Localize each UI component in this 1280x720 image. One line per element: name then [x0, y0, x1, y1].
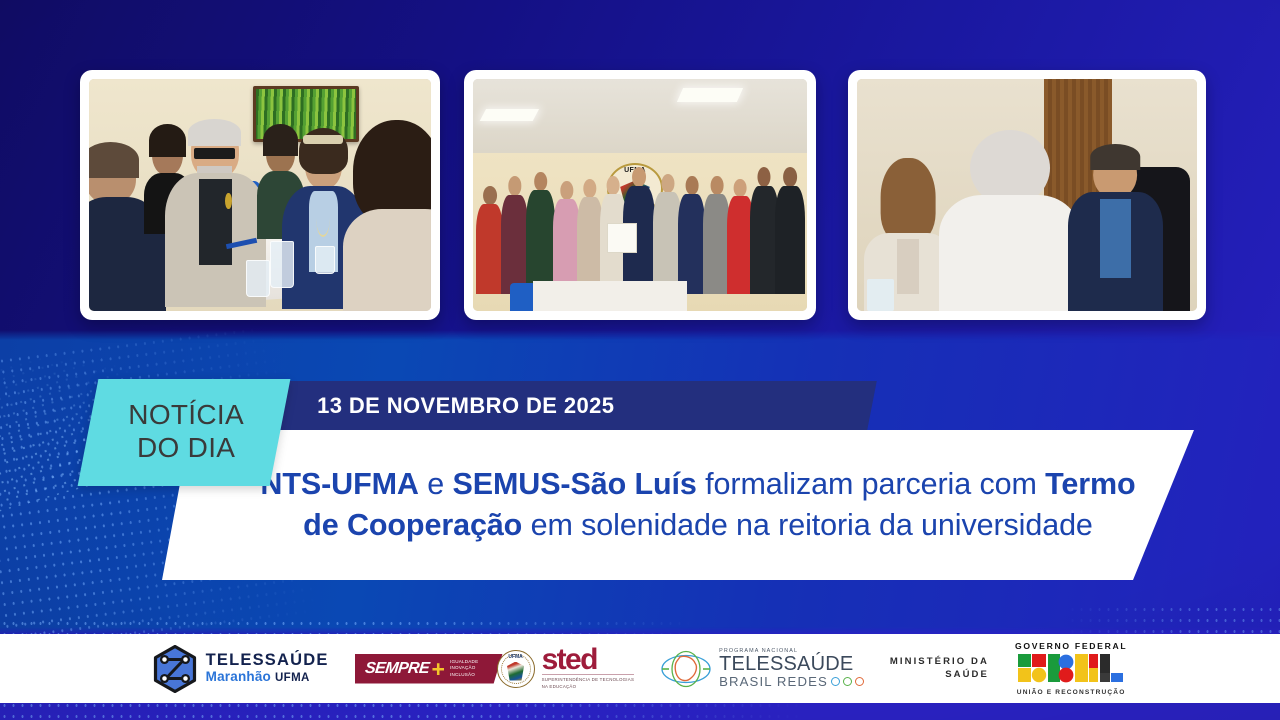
- sted-wordmark: sted: [542, 647, 635, 672]
- sempre-mais-banner: SEMPRE + IGUALDADE INOVAÇÃO INCLUSÃO: [355, 654, 503, 684]
- headline-text: NTS-UFMA e SEMUS-São Luís formalizam par…: [258, 464, 1138, 546]
- brasil-blocks-icon: [1017, 653, 1125, 683]
- sempre-sub-2: INOVAÇÃO: [450, 665, 476, 670]
- logo-telessaude-maranhao: TELESSAÚDE Maranhão UFMA: [153, 645, 329, 693]
- photo-meeting-table: [80, 70, 440, 320]
- logo-sempre-sted-group: SEMPRE + IGUALDADE INOVAÇÃO INCLUSÃO UFM…: [355, 647, 635, 690]
- redes-dot-orange-icon: [855, 677, 864, 686]
- logo-ministerio-da-saude: MINISTÉRIO DA SAÚDE: [890, 656, 989, 682]
- ministerio-line1: MINISTÉRIO DA: [890, 656, 989, 669]
- badge-line-1: NOTÍCIA: [90, 398, 282, 431]
- photo-office-conversation: [848, 70, 1206, 320]
- sted-sub-2: NA EDUCAÇÃO: [542, 684, 635, 691]
- photo-group-ufma: UFMA: [464, 70, 816, 320]
- telessaude-university: UFMA: [275, 672, 310, 684]
- sempre-wordmark: SEMPRE: [364, 660, 430, 678]
- noticia-do-dia-badge: NOTÍCIA DO DIA: [78, 379, 291, 486]
- ministerio-line2: SAÚDE: [890, 669, 989, 682]
- logo-sted: sted SUPERINTENDÊNCIA DE TECNOLOGIAS NA …: [542, 647, 635, 690]
- logo-governo-federal: GOVERNO FEDERAL UNIÃO E RECONST: [1015, 641, 1127, 696]
- telessaude-hexagon-network-icon: [153, 645, 197, 693]
- logo-telessaude-brasil-redes: PROGRAMA NACIONAL TELESSAÚDE BRASIL REDE…: [660, 649, 864, 689]
- sempre-subtitle: IGUALDADE INOVAÇÃO INCLUSÃO: [450, 659, 478, 679]
- ufma-seal-icon: UFMA: [497, 650, 535, 688]
- redes-dot-green-icon: [843, 677, 852, 686]
- governo-federal-top: GOVERNO FEDERAL: [1015, 641, 1127, 651]
- redes-dot-blue-icon: [831, 677, 840, 686]
- telessaude-state: Maranhão: [206, 669, 271, 684]
- telessaude-brasil-line1: TELESSAÚDE: [719, 654, 864, 674]
- date-text: 13 DE NOVEMBRO DE 2025: [269, 381, 873, 419]
- brazil-map-globe-icon: [660, 649, 712, 689]
- headline-panel: NTS-UFMA e SEMUS-São Luís formalizam par…: [162, 430, 1194, 580]
- governo-federal-bottom: UNIÃO E RECONSTRUÇÃO: [1015, 689, 1127, 696]
- sted-sub-1: SUPERINTENDÊNCIA DE TECNOLOGIAS: [542, 677, 635, 684]
- badge-text: NOTÍCIA DO DIA: [90, 379, 282, 464]
- ufma-seal-label: UFMA: [498, 654, 534, 660]
- telessaude-wordmark: TELESSAÚDE: [206, 652, 329, 669]
- sempre-sub-3: INCLUSÃO: [450, 672, 475, 677]
- date-bar: 13 DE NOVEMBRO DE 2025: [263, 381, 877, 430]
- badge-line-2: DO DIA: [90, 431, 282, 464]
- telessaude-brasil-line2: BRASIL REDES: [719, 675, 828, 688]
- sempre-sub-1: IGUALDADE: [450, 659, 478, 664]
- news-card-stage: UFMA: [0, 0, 1280, 720]
- sponsor-logo-bar: TELESSAÚDE Maranhão UFMA SEMPRE + IGUALD…: [0, 634, 1280, 703]
- photo-row: UFMA: [0, 70, 1280, 320]
